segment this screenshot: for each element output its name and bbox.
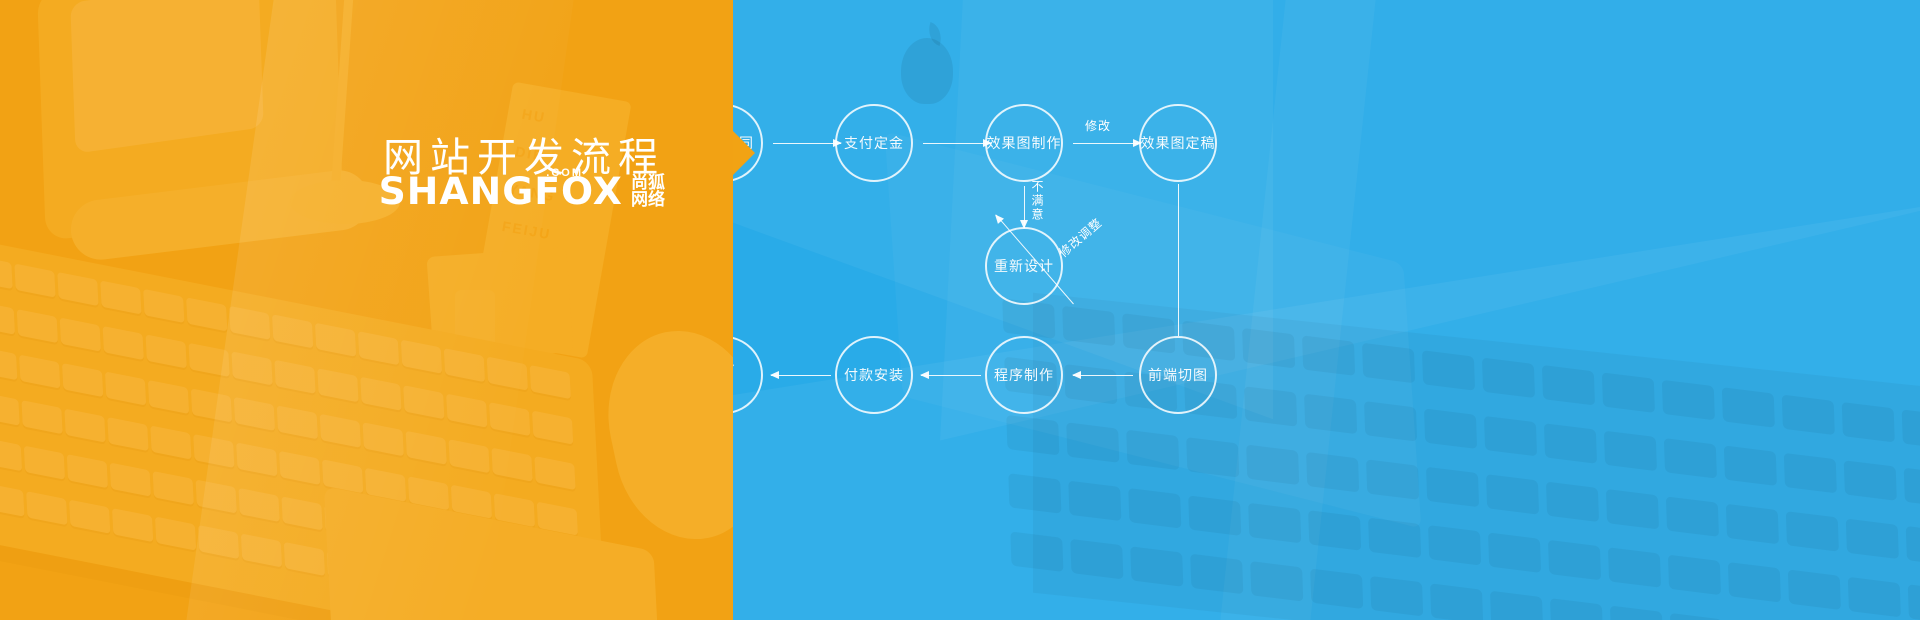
flow-node-frontend-slicing[interactable]: 前端切图 (1139, 336, 1217, 414)
arrow-deposit-to-mockup (923, 143, 991, 144)
keyboard-ghost-key (1362, 343, 1415, 384)
keyboard-ghost-key (1490, 591, 1543, 620)
logo-cn-top: 尚狐 (631, 175, 665, 192)
keyboard-ghost-key (1546, 482, 1599, 523)
keyboard-ghost-key (1126, 430, 1179, 471)
keyboard-ghost-key (1242, 328, 1295, 369)
flow-node-label: 前端切图 (1148, 365, 1208, 385)
keyboard-ghost-key (1906, 526, 1920, 567)
apple-logo-ghost-icon (901, 38, 953, 104)
keyboard-ghost-key (1190, 554, 1243, 595)
keyboard-ghost-key (1842, 402, 1895, 443)
keyboard-ghost-key (1062, 306, 1115, 347)
keyboard-ghost-key (1364, 401, 1417, 442)
keyboard-ghost-key (1784, 453, 1837, 494)
keyboard-ghost-key (1602, 372, 1655, 413)
keyboard-ghost-key (1250, 561, 1303, 602)
keyboard-ghost-key (1428, 525, 1481, 566)
keyboard-ghost-key (1486, 474, 1539, 515)
keyboard-ghost-key (1550, 598, 1603, 620)
keyboard-ghost-key (1604, 431, 1657, 472)
arrow-mockup-to-final (1073, 143, 1141, 144)
flow-node-programming[interactable]: 程序制作 (985, 336, 1063, 414)
keyboard-ghost-key (1370, 576, 1423, 617)
keyboard-ghost-key (1488, 532, 1541, 573)
flow-node-final-design[interactable]: 效果图定稿 (1139, 104, 1217, 182)
banner-stage: HU DIE YANG FEIJU 网站开发流程 .COM SHANGFOX 尚… (0, 0, 1920, 620)
keyboard-ghost-key (1846, 519, 1899, 560)
flow-node-label: 效果图制作 (987, 133, 1062, 153)
keyboard-ghost-key (1848, 577, 1901, 618)
keyboard-ghost-key (1728, 562, 1781, 603)
keyboard-ghost-key (1070, 539, 1123, 580)
keyboard-ghost-key (1482, 358, 1535, 399)
logo-chinese-name: 尚狐 网络 (631, 175, 665, 209)
keyboard-ghost-key (1186, 437, 1239, 478)
keyboard-ghost-key (1424, 408, 1477, 449)
edge-label-revise: 修改 (1085, 117, 1111, 134)
check-icon: ✔ (733, 358, 739, 392)
keyboard-ghost-key (1666, 496, 1719, 537)
logo-cn-bottom: 网络 (631, 192, 665, 209)
keyboard-ghost-key (1542, 365, 1595, 406)
keyboard-ghost-key (1248, 503, 1301, 544)
keyboard-ghost-key (1006, 415, 1059, 456)
keyboard-ghost-key (1008, 473, 1061, 514)
keyboard-ghost-key (1662, 380, 1715, 421)
keyboard-ghost-key (1548, 540, 1601, 581)
flow-node-mockup[interactable]: 效果图制作 (985, 104, 1063, 182)
keyboard-ghost-key (1484, 416, 1537, 457)
keyboard-ghost-key (1782, 395, 1835, 436)
keyboard-ghost-key (1130, 546, 1183, 587)
connector-final-to-slicing (1178, 184, 1179, 336)
keyboard-ghost-key (1902, 409, 1920, 450)
keyboard-ghost-key (1722, 387, 1775, 428)
keyboard-ghost-key (1306, 452, 1359, 493)
keyboard-ghost-key (1786, 511, 1839, 552)
keyboard-ghost-key (1066, 422, 1119, 463)
flow-node-label: 程序制作 (994, 365, 1054, 385)
brand-logo: .COM SHANGFOX 尚狐 网络 (0, 170, 700, 213)
arrow-payinstall-to-done (771, 375, 831, 376)
keyboard-ghost-key (1426, 467, 1479, 508)
flow-node-redesign[interactable]: 重新设计 (985, 227, 1063, 305)
keyboard-ghost-key (1724, 445, 1777, 486)
flow-node-label: 支付定金 (844, 133, 904, 153)
keyboard-ghost-key (1188, 495, 1241, 536)
panel-divider-arrow (733, 131, 755, 175)
edge-label-unsatisfied: 不满意 (1029, 180, 1046, 222)
desk-photo-background: HU DIE YANG FEIJU (0, 0, 733, 620)
arrow-mockup-to-redesign (1024, 186, 1025, 228)
flow-node-payment-install[interactable]: 付款安装 (835, 336, 913, 414)
keyboard-ghost-key (1788, 569, 1841, 610)
arrow-program-to-payinstall (921, 375, 981, 376)
arrow-slicing-to-program (1073, 375, 1133, 376)
logo-wordmark: SHANGFOX (379, 170, 623, 213)
right-blue-panel: 签定合同 支付定金 效果图制作 修改 效果图定稿 不满意 重新设计 修改调整 前… (733, 0, 1920, 620)
keyboard-ghost-key (1244, 386, 1297, 427)
keyboard-ghost-key (1908, 584, 1920, 620)
flow-node-label: 效果图定稿 (1141, 133, 1216, 153)
keyboard-ghost-key (1670, 613, 1723, 620)
keyboard-ghost-key (1128, 488, 1181, 529)
keyboard-ghost-key (1010, 531, 1063, 572)
keyboard-ghost-key (1664, 438, 1717, 479)
keyboard-ghost-key (1368, 518, 1421, 559)
keyboard-ghost-key (1606, 489, 1659, 530)
left-orange-panel: HU DIE YANG FEIJU 网站开发流程 .COM SHANGFOX 尚… (0, 0, 733, 620)
keyboard-ghost-key (1310, 568, 1363, 609)
keyboard-ghost-key (1544, 423, 1597, 464)
flow-node-pay-deposit[interactable]: 支付定金 (835, 104, 913, 182)
keyboard-ghost-key (1904, 468, 1920, 509)
keyboard-ghost-key (1608, 547, 1661, 588)
keyboard-ghost-key (1304, 394, 1357, 435)
keyboard-ghost-key (1068, 481, 1121, 522)
keyboard-ghost-key (1430, 583, 1483, 620)
keyboard-ghost-key (1610, 605, 1663, 620)
arrow-sign-to-deposit (773, 143, 841, 144)
keyboard-ghost-key (1366, 459, 1419, 500)
keyboard-ghost-key (1422, 350, 1475, 391)
keyboard-ghost-key (1302, 335, 1355, 376)
keyboard-ghost-key (1844, 460, 1897, 501)
keyboard-ghost-key (1308, 510, 1361, 551)
flow-node-label: 付款安装 (844, 365, 904, 385)
keyboard-ghost-key (1726, 504, 1779, 545)
keyboard-ghost-key (1668, 555, 1721, 596)
keyboard-ghost-key (1246, 444, 1299, 485)
